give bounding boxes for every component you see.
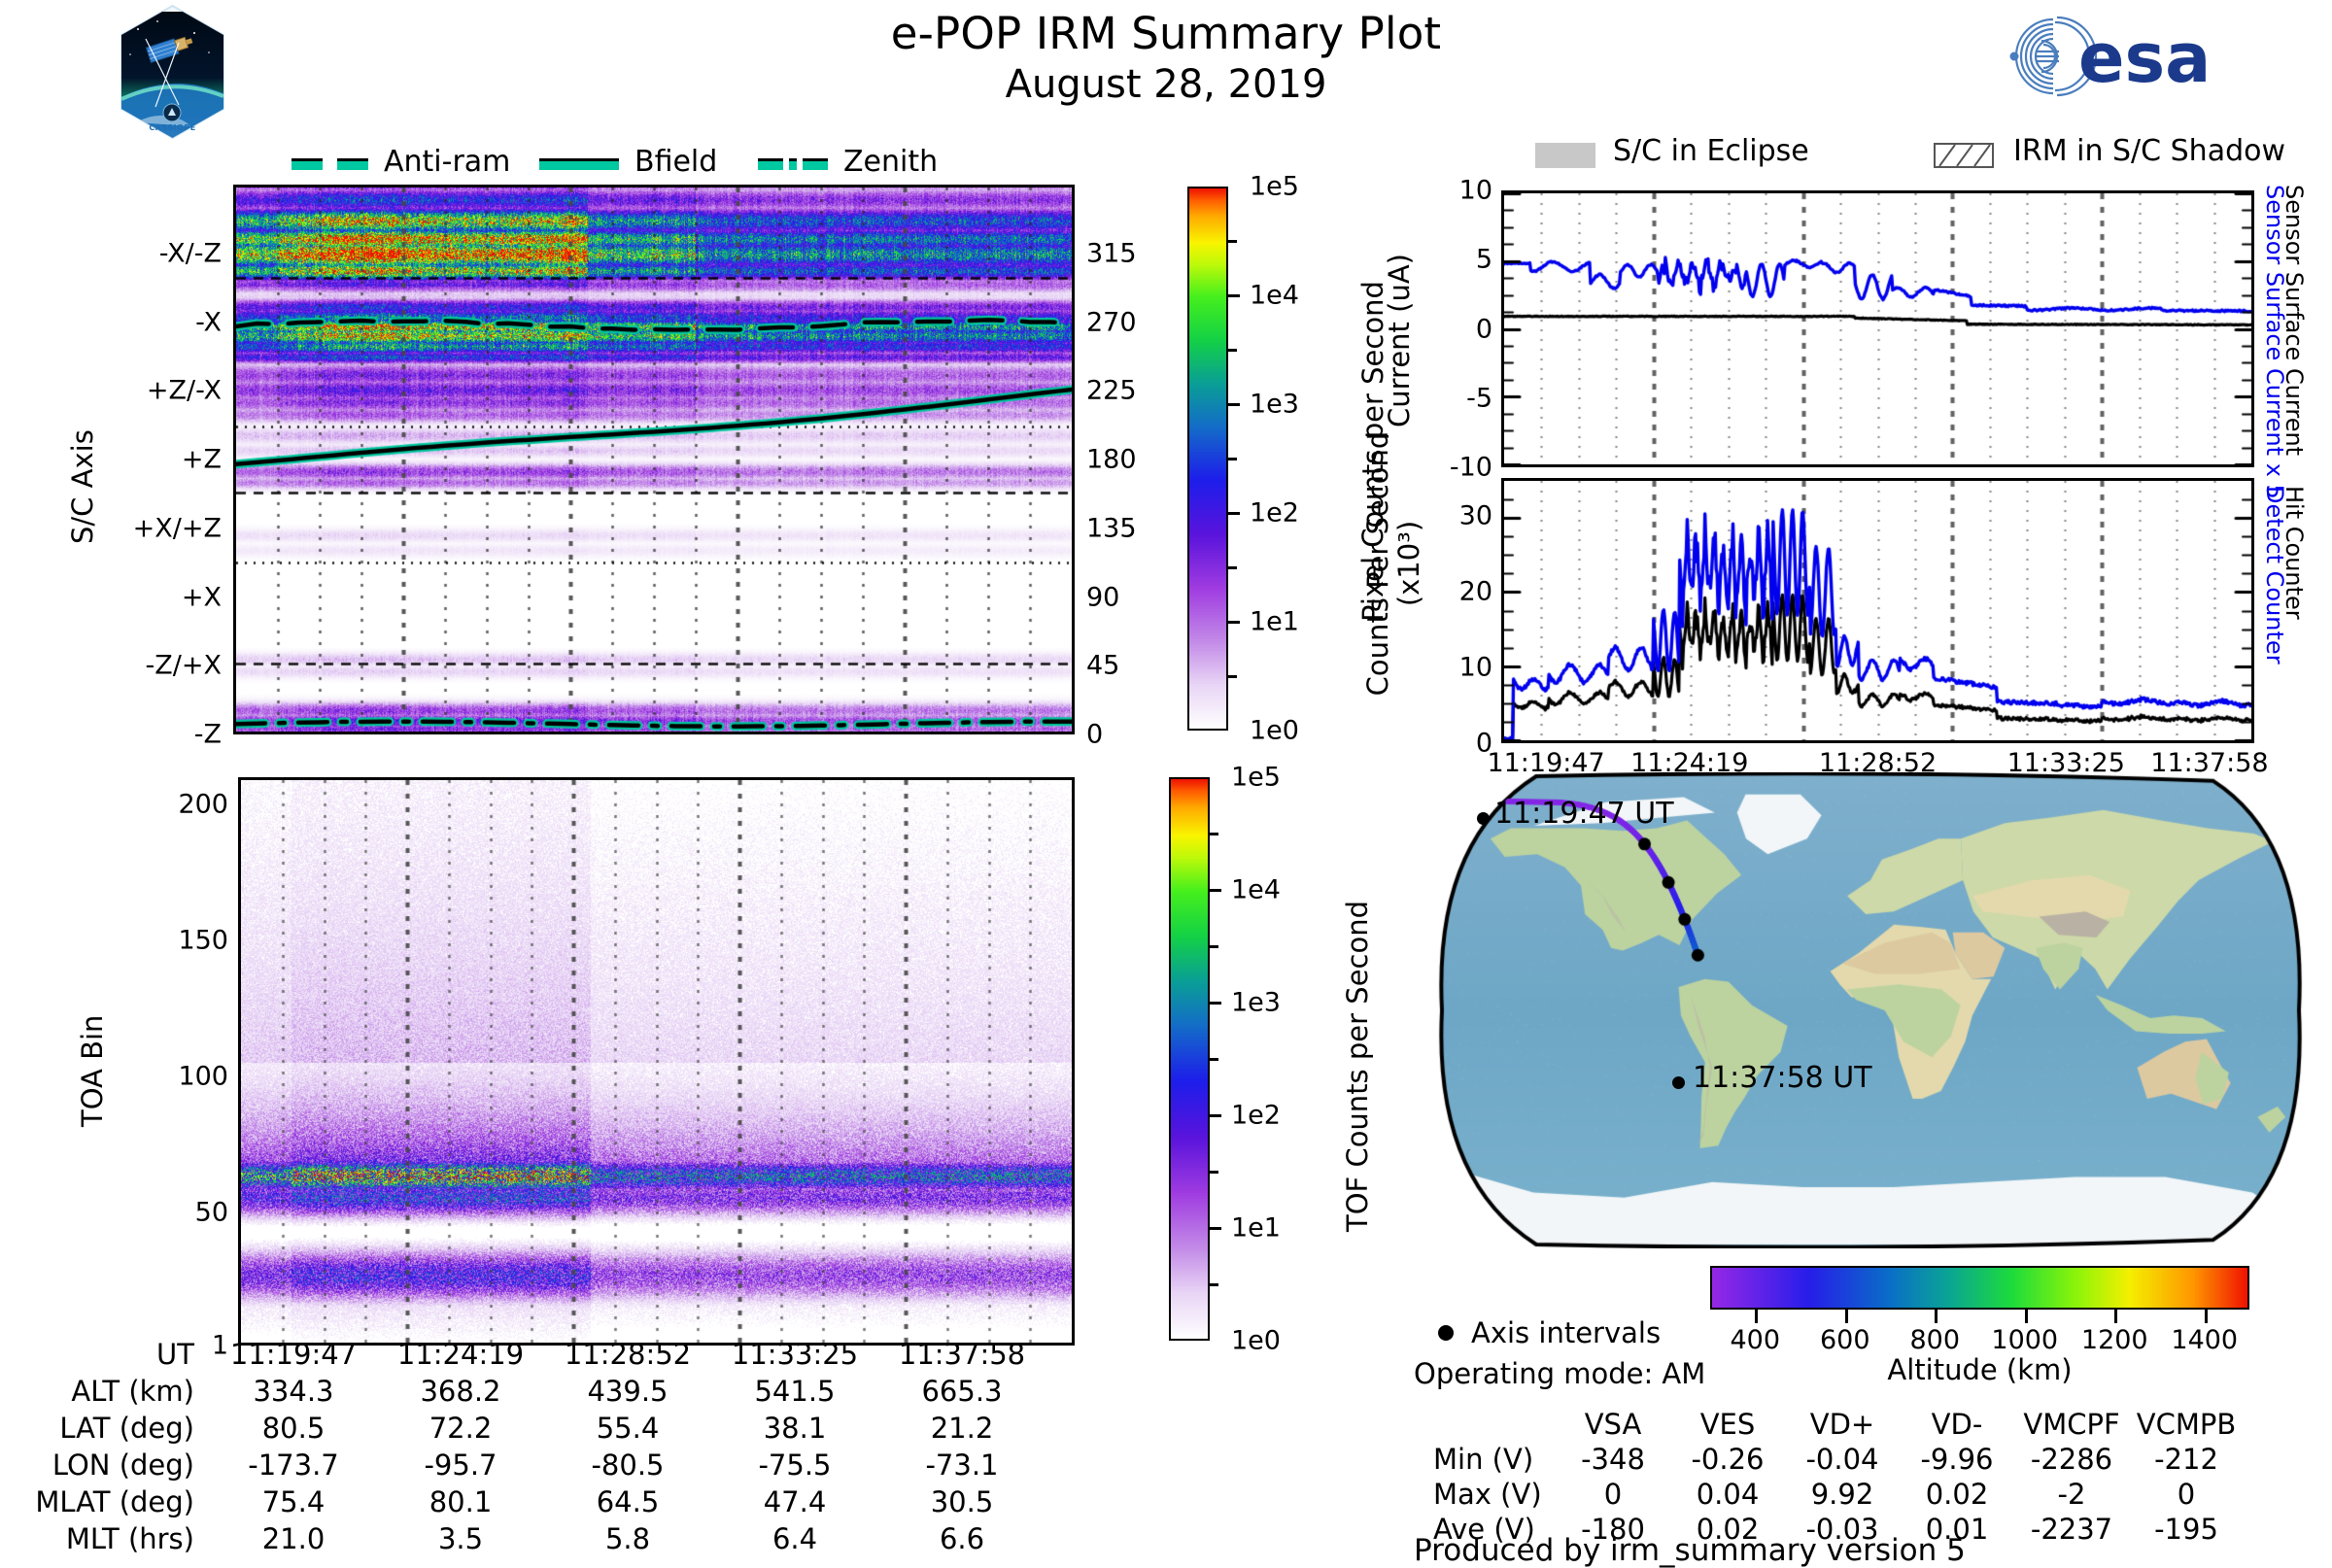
- sc-axis-ytick-right-6: 45: [1086, 653, 1119, 679]
- voltage-corner: [1433, 1407, 1556, 1442]
- voltage-col-header: VCMPB: [2129, 1407, 2244, 1442]
- operating-mode-label: Operating mode: AM: [1414, 1357, 1705, 1390]
- colorbar-minor-mark-1: [1210, 945, 1218, 948]
- sc-axis-ytick-right-4: 135: [1086, 515, 1137, 541]
- param-cell: 11:24:19: [377, 1336, 544, 1373]
- sc-axis-ytick-left-6: -Z/+X: [146, 653, 222, 679]
- voltage-row: Max (V)00.049.920.02-20: [1433, 1477, 2244, 1512]
- legend-item-anti-ram: Anti-ram: [291, 146, 476, 179]
- colorbar-tick-label-3: 1e2: [1231, 1103, 1281, 1129]
- colorbar-minor-mark-1: [1228, 349, 1237, 352]
- svg-text:CASSIOPE: CASSIOPE: [149, 123, 195, 132]
- colorbar-minor-mark-3: [1210, 1171, 1218, 1174]
- sc-axis-heatmap-canvas[interactable]: [236, 187, 1072, 732]
- zenith-dash-icon: [758, 158, 783, 170]
- sc-axis-spectrogram-panel[interactable]: [233, 185, 1075, 734]
- current-line-canvas[interactable]: [1504, 193, 2251, 464]
- param-cell: 21.2: [878, 1410, 1046, 1447]
- voltage-cell: 0.02: [1900, 1477, 2014, 1512]
- toa-bin-spectrogram-panel[interactable]: [238, 777, 1075, 1346]
- colorbar-tick-label-2: 1e3: [1231, 990, 1281, 1016]
- toa-bin-ytick-labels: 200150100501: [107, 777, 228, 1346]
- current-ytick-0: 10: [1459, 178, 1492, 204]
- esa-wordmark: esa: [2078, 18, 2211, 98]
- param-cell: -173.7: [210, 1447, 377, 1483]
- counts-ytick-0: 30: [1459, 503, 1492, 529]
- param-cell: 5.8: [544, 1520, 711, 1557]
- voltage-header-row: VSAVESVD+VD-VMCPFVCMPB: [1433, 1407, 2244, 1442]
- voltage-col-header: VES: [1670, 1407, 1785, 1442]
- pixel-counts-colorbar-ticks: 1e51e41e31e21e11e0: [1228, 187, 1355, 731]
- param-row-1: ALT (km)334.3368.2439.5541.5665.3: [19, 1373, 1046, 1410]
- altitude-tick-1: [1845, 1310, 1848, 1323]
- anti-ram-dash-icon-2: [337, 158, 368, 170]
- colorbar-minor-mark-4: [1228, 675, 1237, 678]
- ground-track-map[interactable]: 11:19:47 UT 11:37:58 UT: [1438, 772, 2303, 1248]
- altitude-tick-label-1: 600: [1820, 1327, 1870, 1353]
- current-timeseries-panel[interactable]: [1501, 190, 2254, 467]
- altitude-tick-2: [1935, 1310, 1938, 1323]
- param-cell: -95.7: [377, 1447, 544, 1483]
- sc-axis-ytick-right-0: 315: [1086, 240, 1137, 266]
- colorbar-tick-label-4: 1e1: [1250, 609, 1299, 635]
- param-row-label: ALT (km): [19, 1373, 210, 1410]
- legend-label-anti-ram: Anti-ram: [384, 146, 510, 179]
- param-cell: 38.1: [711, 1410, 878, 1447]
- axis-intervals-label: Axis intervals: [1471, 1316, 1661, 1349]
- param-cell: 334.3: [210, 1373, 377, 1410]
- toa-ytick-0: 200: [178, 791, 228, 817]
- colorbar-tick-label-0: 1e5: [1250, 174, 1299, 200]
- colorbar-minor-mark-0: [1210, 833, 1218, 835]
- colorbar-minor-mark-4: [1210, 1283, 1218, 1286]
- colorbar-tick-label-5: 1e0: [1250, 718, 1299, 744]
- param-row-label: UT: [19, 1336, 210, 1373]
- current-ytick-3: -5: [1466, 385, 1492, 411]
- voltage-cell: -2: [2014, 1477, 2129, 1512]
- sc-axis-ytick-right-3: 180: [1086, 447, 1137, 473]
- param-cell: 64.5: [544, 1483, 711, 1520]
- legend-item-bfield: Bfield: [539, 146, 724, 179]
- legend-label-sc-eclipse: S/C in Eclipse: [1613, 134, 1809, 169]
- colorbar-minor-mark-2: [1210, 1058, 1218, 1061]
- track-start-dot: [1477, 812, 1490, 825]
- altitude-colorbar-ticks: 400600800100012001400: [1710, 1310, 2249, 1323]
- tof-counts-colorbar-canvas: [1171, 779, 1208, 1339]
- altitude-tick-3: [2025, 1310, 2028, 1323]
- param-row-label: LAT (deg): [19, 1410, 210, 1447]
- altitude-colorbar-canvas: [1712, 1268, 2247, 1308]
- voltage-row-label: Min (V): [1433, 1442, 1556, 1477]
- sc-axis-ytick-right-7: 0: [1086, 722, 1103, 748]
- param-row-0: UT11:19:4711:24:1911:28:5211:33:2511:37:…: [19, 1336, 1046, 1373]
- colorbar-tick-label-5: 1e0: [1231, 1328, 1281, 1354]
- colorbar-tick-label-3: 1e2: [1250, 500, 1299, 527]
- altitude-tick-label-5: 1400: [2171, 1327, 2238, 1353]
- colorbar-tick-mark-3: [1210, 1114, 1221, 1117]
- sc-axis-legend: Anti-ram Bfield Zenith: [291, 146, 972, 179]
- track-end-dot: [1672, 1076, 1685, 1089]
- track-end-label: 11:37:58 UT: [1693, 1064, 1872, 1093]
- param-cell: 6.4: [711, 1520, 878, 1557]
- voltage-cell: 9.92: [1785, 1477, 1900, 1512]
- voltage-summary-table: VSAVESVD+VD-VMCPFVCMPBMin (V)-348-0.26-0…: [1433, 1407, 2244, 1547]
- param-row-4: MLAT (deg)75.480.164.547.430.5: [19, 1483, 1046, 1520]
- sc-axis-ytick-right-1: 270: [1086, 309, 1137, 335]
- altitude-colorbar: [1710, 1266, 2249, 1310]
- anti-ram-dash-icon: [291, 158, 323, 170]
- voltage-row-label: Max (V): [1433, 1477, 1556, 1512]
- param-row-label: MLT (hrs): [19, 1520, 210, 1557]
- colorbar-tick-mark-2: [1228, 403, 1240, 406]
- current-ytick-4: -10: [1450, 455, 1492, 481]
- legend-item-zenith: Zenith: [758, 146, 952, 179]
- axis-intervals-legend: Axis intervals: [1438, 1316, 1661, 1349]
- toa-bin-heatmap-canvas[interactable]: [241, 780, 1072, 1343]
- sc-axis-ytick-left-0: -X/-Z: [159, 240, 222, 266]
- voltage-cell: -195: [2129, 1512, 2244, 1547]
- zenith-dot-icon: [789, 158, 797, 170]
- voltage-cell: -2237: [2014, 1512, 2129, 1547]
- voltage-cell: 0: [1556, 1477, 1670, 1512]
- colorbar-tick-mark-1: [1228, 294, 1240, 297]
- voltage-cell: -348: [1556, 1442, 1670, 1477]
- colorbar-tick-mark-1: [1210, 889, 1221, 892]
- irm-shadow-swatch-icon: [1934, 143, 1994, 168]
- current-right-label-black: Sensor Surface Current: [2285, 185, 2315, 476]
- pixel-counts-colorbar-canvas: [1189, 188, 1226, 729]
- param-cell: 11:33:25: [711, 1336, 878, 1373]
- sc-axis-ytick-labels-right: 31527022518013590450: [1086, 185, 1174, 734]
- pixel-counts-colorbar: [1187, 187, 1228, 731]
- colorbar-tick-label-1: 1e4: [1250, 283, 1299, 309]
- sc-axis-ytick-left-5: +X: [182, 584, 222, 610]
- colorbar-tick-mark-4: [1210, 1227, 1221, 1230]
- colorbar-minor-mark-0: [1228, 240, 1237, 243]
- sc-axis-ytick-left-4: +X/+Z: [133, 515, 222, 541]
- param-cell: 541.5: [711, 1373, 878, 1410]
- cassiope-mission-patch-icon: CASSIOPE: [117, 4, 228, 140]
- colorbar-minor-mark-3: [1228, 566, 1237, 569]
- footer-credit: Produced by irm_summary version 5: [1414, 1533, 1966, 1568]
- colorbar-tick-mark-3: [1228, 512, 1240, 515]
- param-cell: 21.0: [210, 1520, 377, 1557]
- voltage-cell: -9.96: [1900, 1442, 2014, 1477]
- altitude-colorbar-caption: Altitude (km): [1710, 1353, 2249, 1386]
- sc-eclipse-swatch-icon: [1535, 143, 1595, 168]
- altitude-tick-4: [2114, 1310, 2117, 1323]
- voltage-cell: -212: [2129, 1442, 2244, 1477]
- voltage-cell: -0.04: [1785, 1442, 1900, 1477]
- sc-axis-ytick-left-7: -Z: [194, 722, 222, 748]
- world-map-canvas[interactable]: [1438, 772, 2303, 1248]
- legend-label-zenith: Zenith: [843, 146, 938, 179]
- zenith-dash-icon-2: [803, 158, 828, 170]
- param-cell: 72.2: [377, 1410, 544, 1447]
- colorbar-tick-mark-4: [1228, 621, 1240, 624]
- current-ytick-1: 5: [1476, 247, 1492, 273]
- voltage-cell: -0.26: [1670, 1442, 1785, 1477]
- bfield-line-icon: [539, 158, 619, 170]
- param-cell: 80.5: [210, 1410, 377, 1447]
- param-row-5: MLT (hrs)21.03.55.86.46.6: [19, 1520, 1046, 1557]
- toa-ytick-1: 150: [178, 927, 228, 953]
- colorbar-tick-label-1: 1e4: [1231, 877, 1281, 903]
- axis-interval-dot-icon: [1438, 1325, 1454, 1341]
- altitude-tick-5: [2205, 1310, 2208, 1323]
- param-cell: 6.6: [878, 1520, 1046, 1557]
- param-cell: 3.5: [377, 1520, 544, 1557]
- colorbar-minor-mark-2: [1228, 458, 1237, 460]
- voltage-cell: 0: [2129, 1477, 2244, 1512]
- counts-ytick-1: 20: [1459, 579, 1492, 605]
- param-cell: -73.1: [878, 1447, 1046, 1483]
- param-cell: 11:19:47: [210, 1336, 377, 1373]
- sc-axis-ytick-left-2: +Z/-X: [147, 378, 222, 404]
- tof-counts-colorbar-ticks: 1e51e41e31e21e11e0: [1210, 777, 1336, 1341]
- counts-right-label-black: Hit Counter: [2285, 486, 2315, 738]
- sc-axis-ytick-right-2: 225: [1086, 378, 1137, 404]
- orbit-parameter-table: UT11:19:4711:24:1911:28:5211:33:2511:37:…: [19, 1336, 1046, 1557]
- voltage-row: Min (V)-348-0.26-0.04-9.96-2286-212: [1433, 1442, 2244, 1477]
- altitude-tick-label-3: 1000: [1991, 1327, 2058, 1353]
- param-cell: 11:37:58: [878, 1336, 1046, 1373]
- voltage-cell: -2286: [2014, 1442, 2129, 1477]
- param-cell: 75.4: [210, 1483, 377, 1520]
- voltage-col-header: VSA: [1556, 1407, 1670, 1442]
- altitude-tick-label-2: 800: [1909, 1327, 1960, 1353]
- legend-label-irm-shadow: IRM in S/C Shadow: [2013, 134, 2285, 169]
- current-ytick-2: 0: [1476, 316, 1492, 342]
- param-row-3: LON (deg)-173.7-95.7-80.5-75.5-73.1: [19, 1447, 1046, 1483]
- param-row-label: LON (deg): [19, 1447, 210, 1483]
- counts-ytick-labels: 3020100: [1407, 478, 1492, 743]
- voltage-col-header: VMCPF: [2014, 1407, 2129, 1442]
- param-cell: 665.3: [878, 1373, 1046, 1410]
- param-row-2: LAT (deg)80.572.255.438.121.2: [19, 1410, 1046, 1447]
- altitude-tick-label-4: 1200: [2081, 1327, 2148, 1353]
- altitude-tick-label-0: 400: [1730, 1327, 1780, 1353]
- param-cell: 80.1: [377, 1483, 544, 1520]
- param-cell: 30.5: [878, 1483, 1046, 1520]
- sc-axis-ytick-left-3: +Z: [182, 447, 222, 473]
- param-cell: -80.5: [544, 1447, 711, 1483]
- param-row-label: MLAT (deg): [19, 1483, 210, 1520]
- voltage-cell: 0.04: [1670, 1477, 1785, 1512]
- voltage-col-header: VD+: [1785, 1407, 1900, 1442]
- eclipse-legend: S/C in Eclipse IRM in S/C Shadow: [1535, 134, 2254, 169]
- param-cell: 439.5: [544, 1373, 711, 1410]
- esa-logo-icon: esa: [1977, 12, 2249, 101]
- voltage-col-header: VD-: [1900, 1407, 2014, 1442]
- track-start-label: 11:19:47 UT: [1494, 800, 1674, 829]
- colorbar-tick-label-2: 1e3: [1250, 392, 1299, 418]
- toa-ytick-3: 50: [195, 1199, 228, 1225]
- param-cell: 11:28:52: [544, 1336, 711, 1373]
- counts-timeseries-panel[interactable]: [1501, 478, 2254, 743]
- sc-axis-ytick-labels-left: -X/-Z-X+Z/-X+Z+X/+Z+X-Z/+X-Z: [97, 185, 222, 734]
- colorbar-tick-mark-2: [1210, 1002, 1221, 1005]
- param-cell: -75.5: [711, 1447, 878, 1483]
- colorbar-tick-label-4: 1e1: [1231, 1215, 1281, 1242]
- altitude-tick-0: [1755, 1310, 1758, 1323]
- colorbar-tick-label-0: 1e5: [1231, 765, 1281, 791]
- counts-line-canvas[interactable]: [1504, 481, 2251, 740]
- legend-label-bfield: Bfield: [634, 146, 717, 179]
- tof-counts-colorbar: [1169, 777, 1210, 1341]
- toa-ytick-2: 100: [178, 1063, 228, 1089]
- param-cell: 55.4: [544, 1410, 711, 1447]
- sc-axis-ytick-left-1: -X: [195, 309, 222, 335]
- param-cell: 47.4: [711, 1483, 878, 1520]
- sc-axis-ytick-right-5: 90: [1086, 584, 1119, 610]
- param-cell: 368.2: [377, 1373, 544, 1410]
- counts-ytick-2: 10: [1459, 655, 1492, 681]
